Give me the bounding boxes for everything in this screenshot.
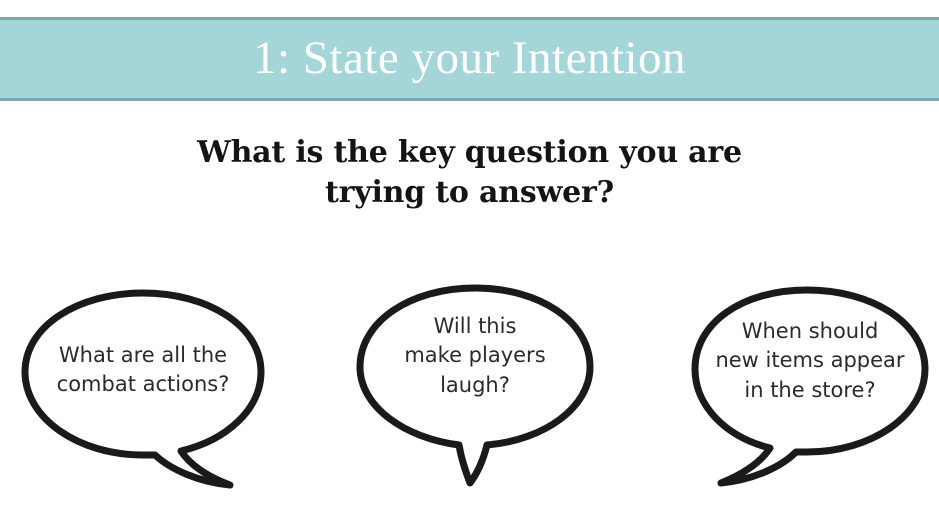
speech-bubble-3-line-3: in the store? (712, 376, 908, 405)
slide-title: 1: State your Intention (253, 35, 686, 82)
speech-bubble-3: When should new items appear in the stor… (688, 282, 932, 494)
speech-bubble-2-text: Will this make players laugh? (353, 312, 597, 400)
speech-bubble-3-line-1: When should (712, 317, 908, 346)
slide-canvas: 1: State your Intention What is the key … (0, 0, 939, 529)
prompt-question: What is the key question you are trying … (0, 133, 939, 213)
speech-bubble-3-text: When should new items appear in the stor… (688, 317, 932, 405)
speech-bubble-2-line-3: laugh? (399, 371, 551, 400)
speech-bubble-2-line-2: make players (399, 341, 551, 370)
speech-bubble-1-text: What are all the combat actions? (18, 341, 268, 400)
speech-bubble-3-line-2: new items appear (712, 346, 908, 375)
speech-bubble-1: What are all the combat actions? (18, 285, 268, 495)
prompt-line-1: What is the key question you are (197, 135, 742, 170)
speech-bubble-2-line-1: Will this (399, 312, 551, 341)
header-band: 1: State your Intention (0, 17, 939, 101)
speech-bubble-group: What are all the combat actions? Will th… (0, 270, 939, 500)
speech-bubble-1-line-1: What are all the (54, 341, 232, 370)
prompt-line-2: trying to answer? (0, 173, 939, 213)
speech-bubble-2: Will this make players laugh? (353, 280, 597, 490)
speech-bubble-1-line-2: combat actions? (54, 370, 232, 399)
